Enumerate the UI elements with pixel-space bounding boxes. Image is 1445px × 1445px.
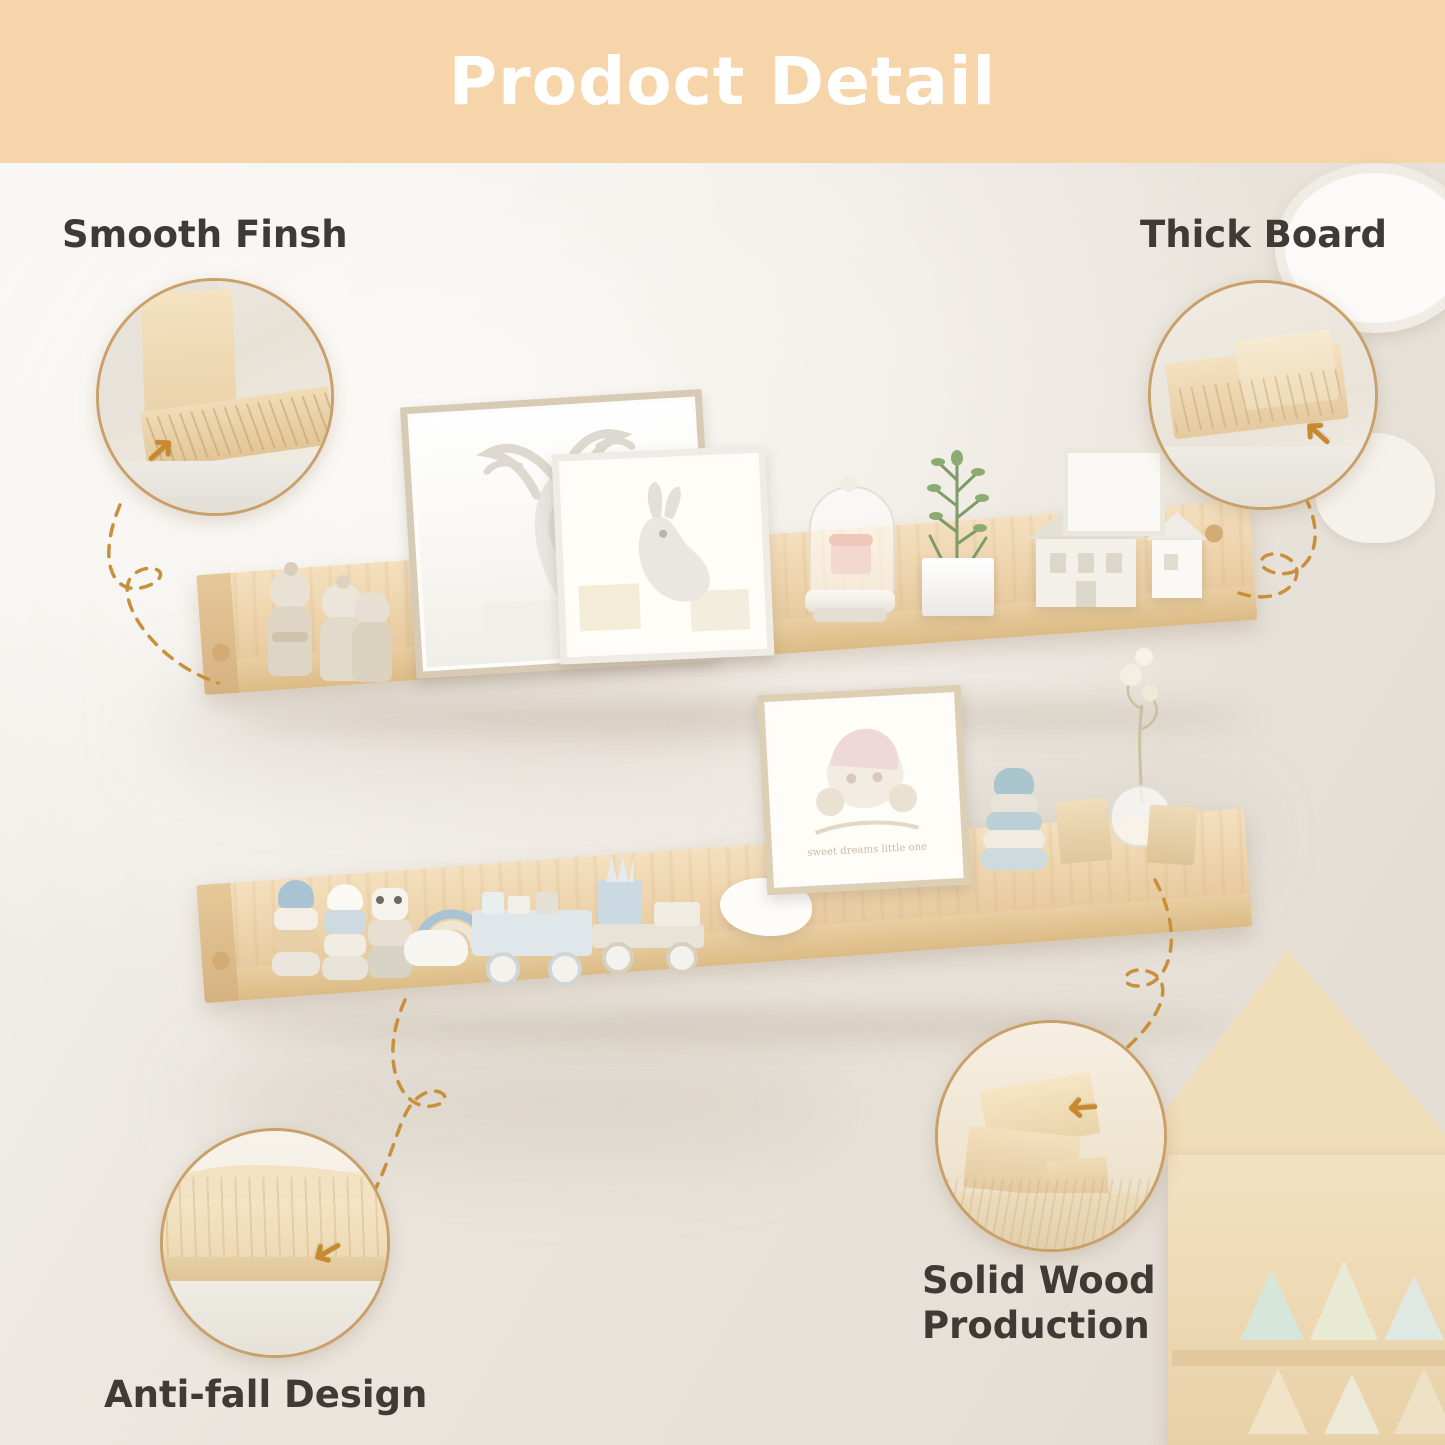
- toy-tree-5: [1324, 1374, 1380, 1434]
- solid-wood-callout: ➜: [935, 1020, 1167, 1252]
- smooth-finish-callout: ➜: [96, 278, 334, 516]
- toy-train-engine: [592, 880, 704, 968]
- thick-board-label: Thick Board: [1140, 212, 1387, 257]
- stacker-ring-2: [986, 812, 1042, 832]
- plant-pot: [922, 558, 994, 616]
- back-frame-small: [1063, 448, 1165, 536]
- nursery-art-frame: sweet dreams little one: [757, 685, 971, 895]
- product-detail-image: Prodoct Detail: [0, 0, 1445, 1445]
- solid-wood-photo: [938, 1023, 1164, 1249]
- house-window-2: [1078, 553, 1094, 573]
- solid-wood-arrow-icon: ➜: [1064, 1084, 1101, 1132]
- house-door: [1076, 581, 1096, 607]
- smooth-finish-photo: [99, 281, 331, 513]
- knitted-doll-1: [268, 570, 312, 680]
- thick-board-photo: [1151, 283, 1375, 507]
- toy-tree-4: [1248, 1368, 1308, 1434]
- rosemary-foliage: [902, 440, 1012, 570]
- toy-tree-2: [1310, 1260, 1378, 1340]
- toy-tree-3: [1384, 1276, 1444, 1340]
- rabbit-illustration: [563, 457, 763, 653]
- page-title: Prodoct Detail: [449, 43, 996, 120]
- stacker-ring-1: [990, 794, 1038, 814]
- toy-tree-6: [1394, 1368, 1445, 1434]
- smooth-finish-label: Smooth Finsh: [62, 212, 348, 257]
- toy-train-wagon: [472, 892, 592, 978]
- stacker-ring-3: [983, 830, 1045, 850]
- rosemary-plant: [902, 440, 1012, 615]
- rabbit-art-frame: [552, 445, 775, 664]
- fox-toy: [368, 888, 412, 982]
- nursery-illustration: sweet dreams little one: [768, 696, 959, 883]
- anti-fall-design-label: Anti-fall Design: [104, 1372, 427, 1417]
- wood-block-1: [1055, 798, 1112, 864]
- solid-wood-production-label: Solid Wood Production: [922, 1258, 1156, 1348]
- cloud-toy: [404, 930, 468, 966]
- ring-stacker: [980, 768, 1048, 878]
- dollhouse-shelf: [1172, 1350, 1445, 1366]
- stacking-toy-2: [322, 884, 368, 982]
- house-window-1: [1050, 553, 1066, 573]
- small-house-window: [1164, 554, 1178, 570]
- nursery-art: sweet dreams little one: [768, 696, 959, 883]
- upper-shelf-shadow: [230, 700, 1250, 734]
- glass-cloche: [805, 478, 895, 628]
- dried-flower: [1098, 645, 1178, 805]
- rabbit-art: [563, 457, 763, 653]
- stacking-toy-1: [272, 880, 320, 980]
- knitted-doll-3: [352, 592, 392, 684]
- dollhouse-roof: [1128, 950, 1445, 1160]
- house-window-3: [1106, 553, 1122, 573]
- stacker-ring-4: [980, 848, 1048, 870]
- thick-board-callout: ➜: [1148, 280, 1378, 510]
- toy-tree-1: [1240, 1270, 1304, 1340]
- anti-fall-callout: ➜: [160, 1128, 390, 1358]
- dollhouse: [1148, 950, 1445, 1445]
- wood-block-2: [1146, 804, 1198, 865]
- anti-fall-photo: [163, 1131, 387, 1355]
- header-banner: Prodoct Detail: [0, 0, 1445, 163]
